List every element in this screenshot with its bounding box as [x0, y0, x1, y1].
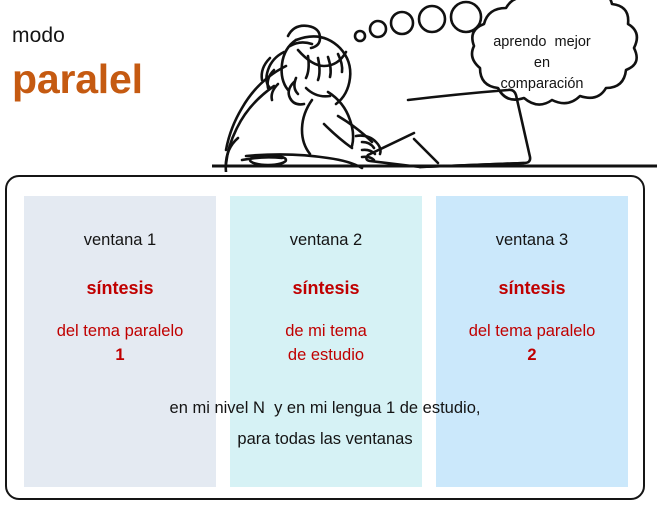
synthesis-heading-1: síntesis	[24, 277, 216, 299]
window-description-3-line-2: 2	[436, 343, 628, 367]
window-description-2-line-2: de estudio	[230, 343, 422, 367]
header-zone: modo paralel	[0, 0, 657, 172]
title-kicker: modo	[12, 24, 222, 48]
window-description-1: del tema paralelo 1	[24, 319, 216, 367]
page-title: paralel	[12, 56, 222, 102]
thought-bubble-text: aprendo mejor en comparación	[466, 32, 618, 95]
window-column-1[interactable]: ventana 1 síntesis del tema paralelo 1	[24, 196, 216, 487]
synthesis-heading-2: síntesis	[230, 277, 422, 299]
window-description-3: del tema paralelo 2	[436, 319, 628, 367]
window-column-2[interactable]: ventana 2 síntesis de mi tema de estudio	[230, 196, 422, 487]
title-block: modo paralel	[12, 24, 222, 102]
window-description-3-line-1: del tema paralelo	[436, 319, 628, 343]
synthesis-heading-3: síntesis	[436, 277, 628, 299]
thought-bubble-line-2: en	[466, 53, 618, 74]
window-label-3: ventana 3	[436, 230, 628, 250]
thought-bubble-line-1: aprendo mejor	[466, 32, 618, 53]
window-label-1: ventana 1	[24, 230, 216, 250]
window-description-1-line-2: 1	[24, 343, 216, 367]
window-label-2: ventana 2	[230, 230, 422, 250]
window-column-3[interactable]: ventana 3 síntesis del tema paralelo 2	[436, 196, 628, 487]
window-description-1-line-1: del tema paralelo	[24, 319, 216, 343]
window-description-2-line-1: de mi tema	[230, 319, 422, 343]
thought-bubble-line-3: comparación	[466, 74, 618, 95]
window-description-2: de mi tema de estudio	[230, 319, 422, 367]
window-columns: ventana 1 síntesis del tema paralelo 1 v…	[24, 196, 628, 487]
windows-panel: ventana 1 síntesis del tema paralelo 1 v…	[5, 175, 645, 500]
